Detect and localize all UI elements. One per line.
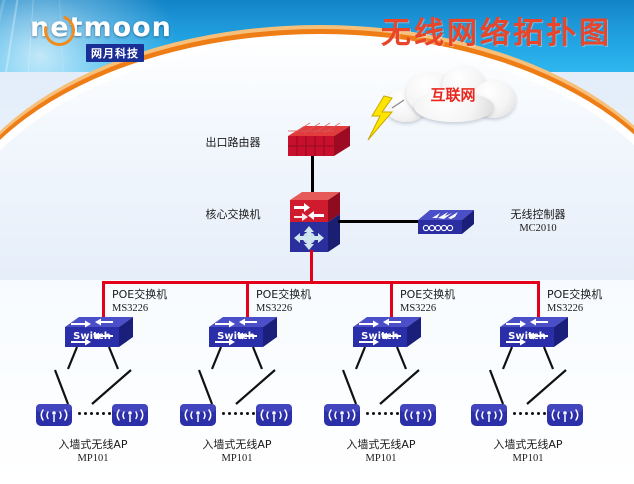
ap-group-model-3: MP101 [321, 452, 441, 465]
core-switch-icon [288, 190, 338, 254]
svg-text:Switch: Switch [361, 331, 399, 342]
svg-text:Switch: Switch [217, 331, 255, 342]
ap-group-label-4: 入墙式无线AP [468, 438, 588, 451]
ap-dotted-link [222, 412, 254, 416]
topology-slide: netmoon 网月科技 无线网络拓扑图 互联网 [0, 0, 634, 484]
poe-switch-icon-2: Switch [209, 313, 285, 365]
poe-switch-icon-1: Switch [65, 313, 141, 365]
ap-group-label-3: 入墙式无线AP [321, 438, 441, 451]
ap-group-model-4: MP101 [468, 452, 588, 465]
edge-router-label: 出口路由器 [178, 136, 288, 149]
backbone-drop-1 [102, 281, 105, 317]
link-router-to-core [311, 156, 314, 192]
ap-group-label-2: 入墙式无线AP [177, 438, 297, 451]
internet-cloud-label: 互联网 [380, 84, 526, 105]
brand-logo: netmoon 网月科技 [30, 14, 190, 62]
backbone-drop-4 [537, 281, 540, 317]
link-core-to-wlc [338, 220, 422, 223]
ap-dotted-link [513, 412, 545, 416]
link-switch-to-aps [318, 362, 438, 404]
switch-face-text: Switch [73, 331, 111, 342]
wireless-controller-icon [418, 208, 474, 238]
link-switch-to-aps [174, 362, 294, 404]
logo-chinese-name: 网月科技 [86, 44, 144, 62]
ap-dotted-link [366, 412, 398, 416]
poe-switch-icon-4: Switch [500, 313, 576, 365]
backbone-drop-from-core [310, 250, 313, 283]
poe-switch-icon-3: Switch [353, 313, 429, 365]
poe-switch-label-4: POE交换机 [547, 288, 634, 301]
ap-group-label-1: 入墙式无线AP [33, 438, 153, 451]
ap-dotted-link [78, 412, 110, 416]
backbone-drop-3 [390, 281, 393, 317]
link-switch-to-aps [465, 362, 585, 404]
poe-switch-label-2: POE交换机 [256, 288, 356, 301]
core-switch-label: 核心交换机 [178, 208, 288, 221]
poe-switch-label-3: POE交换机 [400, 288, 500, 301]
svg-text:Switch: Switch [508, 331, 546, 342]
poe-switch-label-1: POE交换机 [112, 288, 212, 301]
wireless-controller-model: MC2010 [482, 222, 594, 235]
page-title: 无线网络拓扑图 [381, 8, 612, 52]
backbone-drop-2 [246, 281, 249, 317]
ap-group-model-1: MP101 [33, 452, 153, 465]
ap-group-model-2: MP101 [177, 452, 297, 465]
backbone-bus [102, 281, 540, 284]
wireless-controller-label: 无线控制器 [482, 208, 594, 221]
link-switch-to-aps [30, 362, 150, 404]
edge-router-icon [288, 124, 348, 158]
